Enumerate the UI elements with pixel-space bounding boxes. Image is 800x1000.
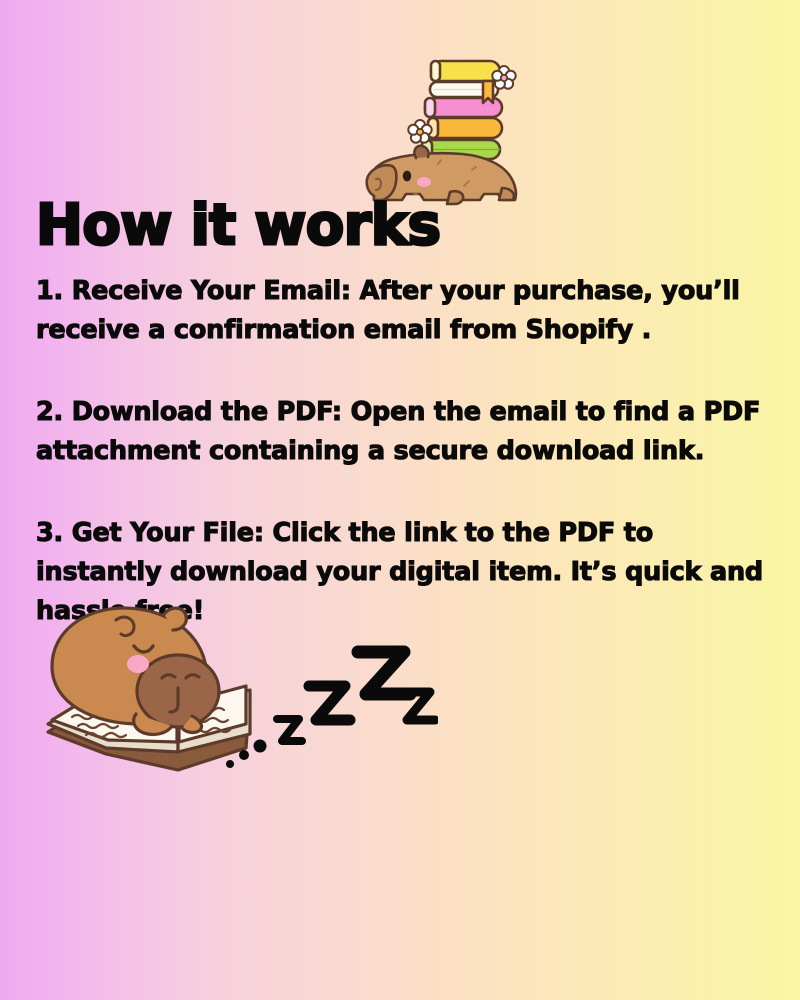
- poster-canvas: How it works 1. Receive Your Email: Afte…: [0, 0, 800, 1000]
- orange-book: [428, 118, 502, 138]
- sleeping-capybara-on-book-illustration: [28, 592, 438, 797]
- bookmark-ribbon: [483, 81, 493, 103]
- page-title: How it works: [36, 198, 440, 254]
- step-item-1: 1. Receive Your Email: After your purcha…: [36, 272, 766, 350]
- step-item-2: 2. Download the PDF: Open the email to f…: [36, 393, 766, 471]
- sleep-z-icon: [277, 652, 435, 741]
- steps-list: 1. Receive Your Email: After your purcha…: [36, 272, 766, 631]
- yellow-book: [431, 61, 500, 81]
